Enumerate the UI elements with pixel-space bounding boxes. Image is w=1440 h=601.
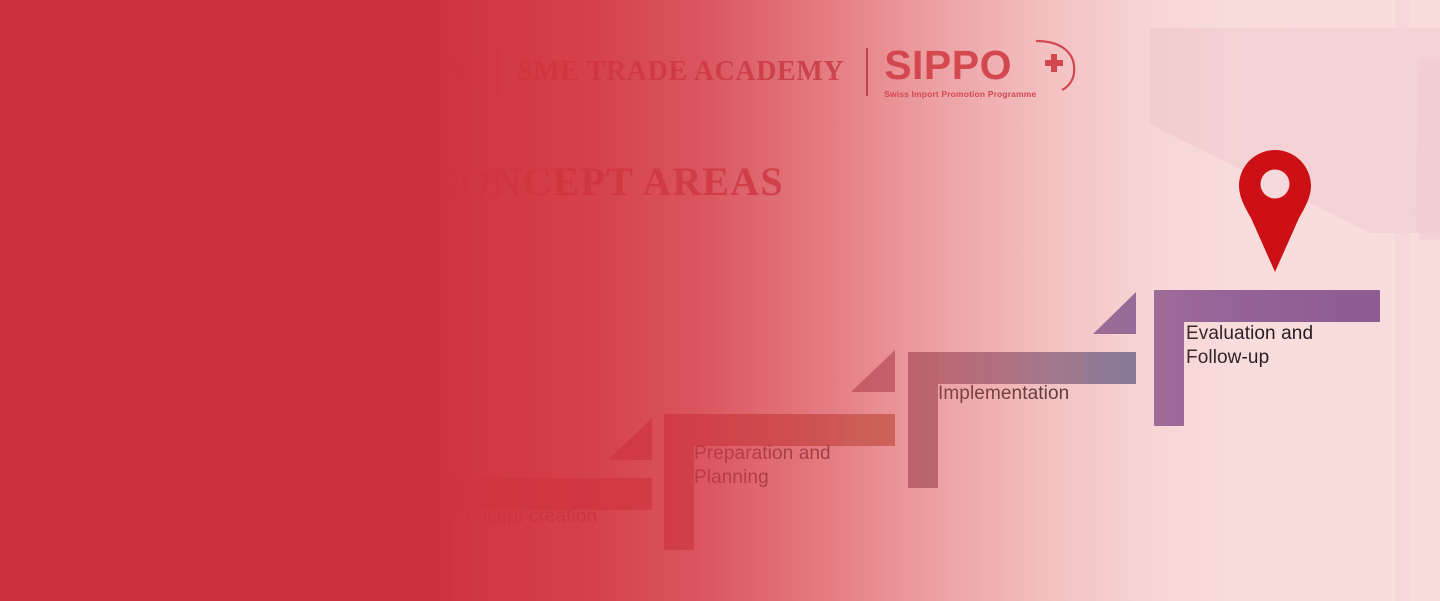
step-tread (1154, 290, 1380, 322)
step-riser (424, 478, 454, 601)
page-title-row: CONCEPT AREAS (380, 158, 784, 205)
header-divider-2 (866, 48, 868, 96)
step-accent-triangle-3 (1093, 292, 1136, 334)
swiss-cross-icon (1044, 53, 1064, 73)
sippo-label: SIPPO (884, 45, 1036, 86)
itc-label: ITC (421, 54, 479, 90)
itc-logo-icon (380, 55, 414, 89)
step-accent-triangle-1 (608, 418, 652, 460)
brand-header: ITC SME TRADE ACADEMY SIPPO Swiss Import… (380, 44, 1036, 100)
slide-canvas: Concept creation Preparation and Plannin… (0, 0, 1440, 601)
step-label: Preparation and Planning (694, 442, 894, 490)
step-riser (664, 414, 694, 550)
step-riser (908, 352, 938, 488)
itc-logo: ITC (380, 54, 479, 90)
step-accent-triangle-2 (851, 350, 895, 392)
map-pin-icon (380, 160, 414, 204)
header-divider (497, 52, 499, 92)
step-stub-1 (600, 478, 652, 510)
academy-label: SME TRADE ACADEMY (517, 56, 844, 88)
step-stub-2 (845, 414, 895, 446)
map-pin-marker-icon[interactable] (1239, 150, 1311, 272)
page-title: CONCEPT AREAS (430, 158, 784, 205)
sippo-logo: SIPPO Swiss Import Promotion Programme (884, 45, 1036, 99)
sippo-tagline: Swiss Import Promotion Programme (884, 89, 1036, 99)
step-riser (1154, 290, 1184, 426)
step-evaluation-followup[interactable]: Evaluation and Follow-up (1154, 290, 1380, 426)
step-label: Evaluation and Follow-up (1186, 322, 1386, 370)
step-label: Implementation (938, 382, 1148, 406)
step-stub-3 (1086, 352, 1136, 384)
